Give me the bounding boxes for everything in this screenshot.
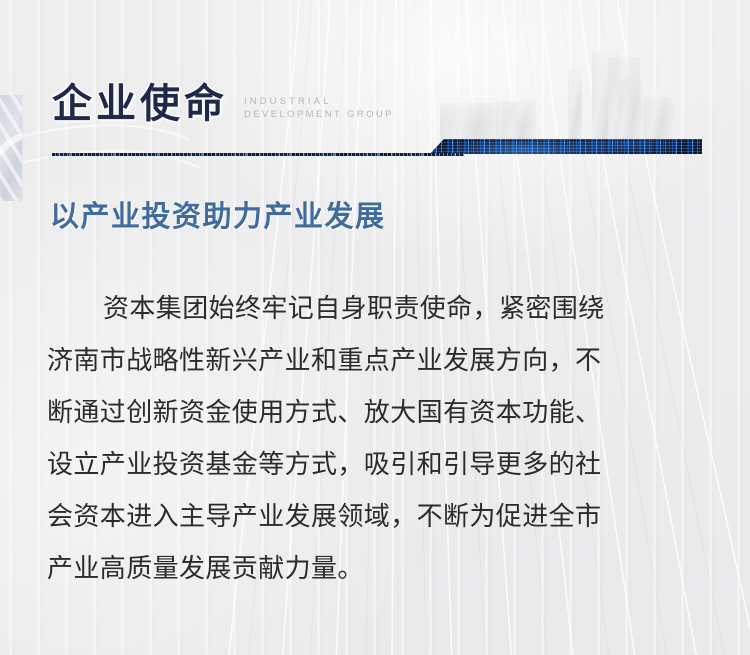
title-english-line-2: DEVELOPMENT GROUP — [244, 108, 394, 121]
body-line: 断通过创新资金使用方式、放大国有资本功能、 — [47, 386, 707, 438]
building-cap — [440, 98, 500, 103]
page-title: 企业使命 — [52, 84, 228, 124]
title-english-line-1: INDUSTRIAL — [244, 95, 394, 108]
section-headline: 以产业投资助力产业发展 — [50, 199, 386, 235]
body-paragraph: 资本集团始终牢记自身职责使命，紧密围绕 济南市战略性新兴产业和重点产业发展方向，… — [47, 282, 707, 594]
body-line: 产业高质量发展贡献力量。 — [47, 542, 707, 594]
title-english-subtitle: INDUSTRIAL DEVELOPMENT GROUP — [244, 95, 394, 124]
slide-canvas: 企业使命 INDUSTRIAL DEVELOPMENT GROUP 以产业投资助… — [0, 0, 750, 655]
body-line: 会资本进入主导产业发展领域，不断为促进全市 — [47, 490, 707, 542]
digital-pixel-bar — [430, 139, 702, 154]
body-line: 资本集团始终牢记自身职责使命，紧密围绕 — [47, 282, 707, 334]
building-7 — [618, 78, 642, 144]
building-3 — [502, 100, 536, 144]
body-line: 济南市战略性新兴产业和重点产业发展方向，不 — [47, 334, 707, 386]
building-cap — [608, 52, 640, 57]
building-1 — [440, 98, 500, 144]
building-cap — [643, 92, 673, 97]
building-8 — [643, 92, 673, 144]
header-divider-rule — [52, 153, 464, 156]
city-skyline-graphic — [430, 30, 750, 160]
building-4 — [568, 70, 582, 144]
body-line: 设立产业投资基金等方式，吸引和引导更多的社 — [47, 438, 707, 490]
building-cap — [592, 46, 620, 51]
section-header: 企业使命 INDUSTRIAL DEVELOPMENT GROUP — [52, 84, 394, 124]
left-striped-accent-block — [0, 95, 23, 201]
